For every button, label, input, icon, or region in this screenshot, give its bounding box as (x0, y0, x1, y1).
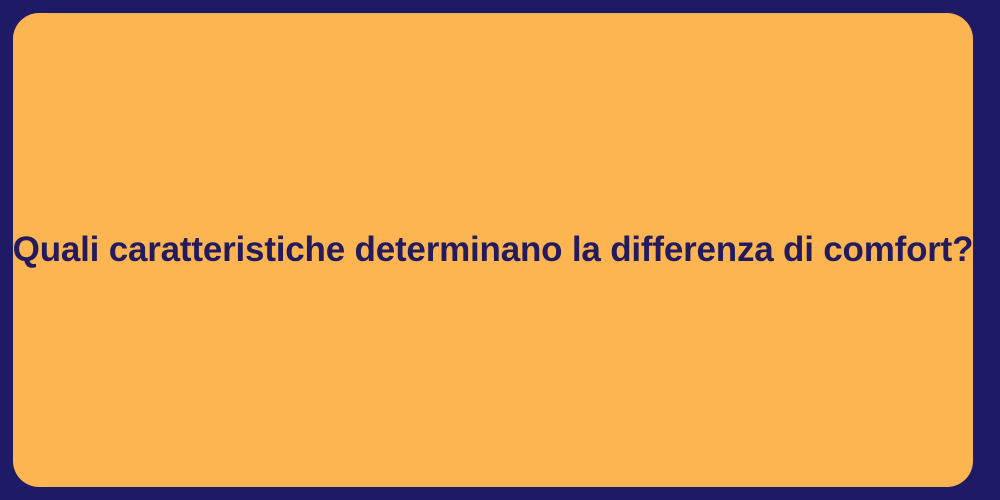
page-canvas: Quali caratteristiche determinano la dif… (0, 0, 1000, 500)
question-card: Quali caratteristiche determinano la dif… (13, 13, 973, 487)
question-heading: Quali caratteristiche determinano la dif… (13, 228, 974, 272)
